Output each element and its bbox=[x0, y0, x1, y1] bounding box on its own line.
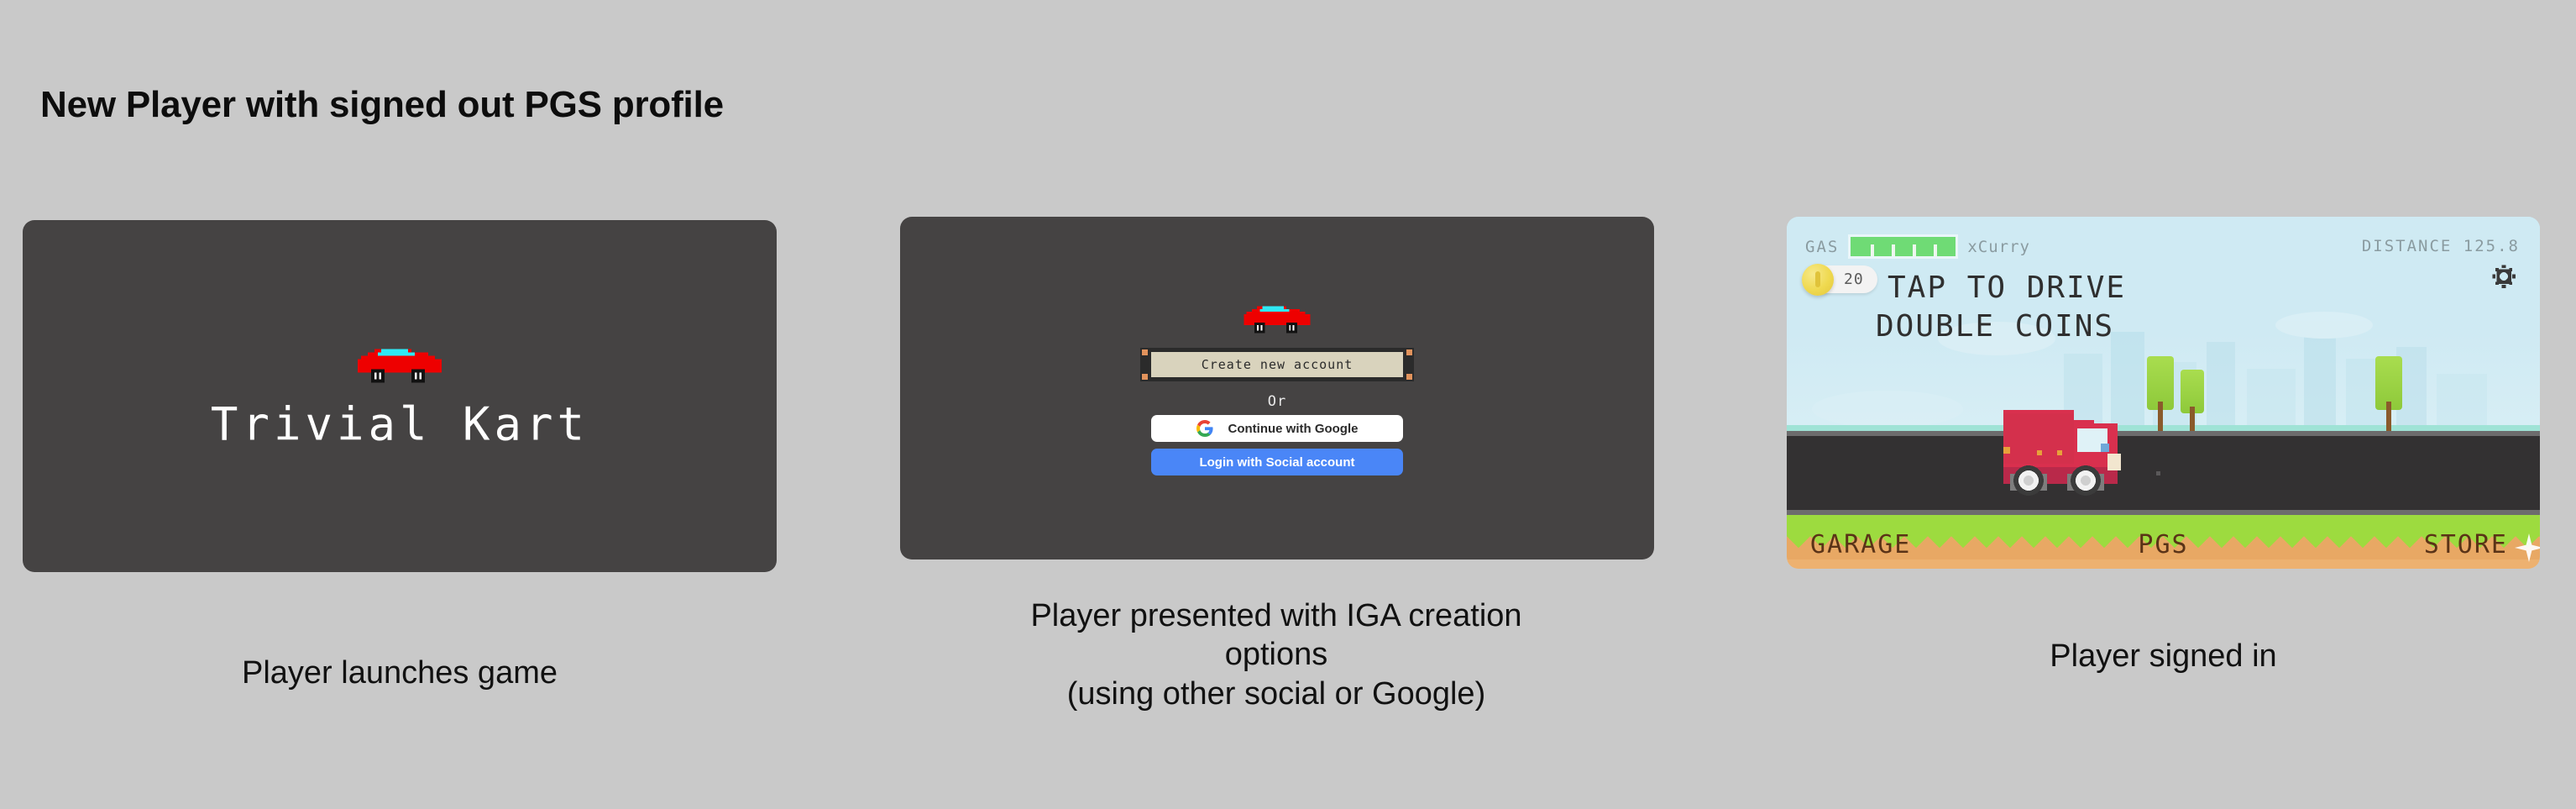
pixel-corner-tl bbox=[1142, 349, 1148, 355]
tree-trunk bbox=[2158, 402, 2163, 432]
car-svg bbox=[1238, 301, 1316, 336]
social-button-label: Login with Social account bbox=[1199, 455, 1354, 470]
distance-readout: DISTANCE 125.8 bbox=[2362, 237, 2520, 255]
coin-count-label: 20 bbox=[1844, 271, 1864, 288]
caption-panel-1: Player launches game bbox=[23, 654, 777, 692]
tree-2 bbox=[2180, 370, 2205, 432]
gas-meter: GAS xCurry bbox=[1805, 237, 2030, 256]
panel-account-creation: Create new account Or Continue with Goog… bbox=[900, 217, 1654, 559]
red-kart-car-sprite bbox=[351, 342, 448, 386]
gas-label: GAS bbox=[1805, 238, 1839, 256]
nav-item-pgs[interactable]: PGS bbox=[2138, 530, 2188, 559]
coin-counter: 20 bbox=[1810, 265, 1877, 293]
pixel-corner-bl bbox=[1142, 374, 1148, 380]
caption-panel-2-line-3: (using other social or Google) bbox=[890, 675, 1662, 713]
pixel-corner-br bbox=[1406, 374, 1412, 380]
login-with-social-button[interactable]: Login with Social account bbox=[1151, 449, 1403, 475]
gear-icon[interactable] bbox=[2491, 264, 2516, 289]
account-dialog: Create new account Or Continue with Goog… bbox=[1139, 301, 1416, 475]
gold-coin-icon bbox=[1802, 264, 1834, 296]
divider-or-label: Or bbox=[1139, 393, 1416, 410]
red-kart-car-sprite bbox=[1238, 301, 1316, 336]
caption-panel-2-line-1: Player presented with IGA creation bbox=[890, 596, 1662, 635]
prompt-line-2: DOUBLE COINS bbox=[1876, 309, 2114, 344]
tree-trunk bbox=[2386, 402, 2391, 432]
caption-panel-3: Player signed in bbox=[1787, 637, 2540, 675]
caption-panel-2: Player presented with IGA creation optio… bbox=[890, 596, 1662, 713]
pixel-corner-tr bbox=[1406, 349, 1412, 355]
continue-with-google-button[interactable]: Continue with Google bbox=[1151, 415, 1403, 442]
gear-svg bbox=[2491, 264, 2516, 289]
bottom-navbar: GARAGE PGS STORE bbox=[1787, 525, 2540, 564]
tree-1 bbox=[2146, 356, 2175, 432]
red-truck-sprite bbox=[2000, 403, 2149, 496]
panel-game-splash: Trivial Kart bbox=[23, 220, 777, 572]
prompt-line-1: TAP TO DRIVE bbox=[1887, 271, 2126, 305]
google-button-label: Continue with Google bbox=[1228, 422, 1359, 436]
nav-item-garage[interactable]: GARAGE bbox=[1810, 530, 1911, 559]
tree-trunk bbox=[2190, 407, 2195, 432]
panel-gameplay: GAS xCurry DISTANCE 125.8 20 TAP TO DRIV… bbox=[1787, 217, 2540, 569]
gas-bar bbox=[1851, 237, 1956, 256]
road-marking bbox=[2156, 471, 2160, 475]
splash-content: Trivial Kart bbox=[23, 342, 777, 450]
create-new-account-label: Create new account bbox=[1202, 357, 1353, 372]
tree-3 bbox=[2374, 356, 2403, 432]
truck-svg bbox=[2000, 403, 2149, 496]
caption-panel-2-line-2: options bbox=[890, 635, 1662, 674]
create-new-account-button[interactable]: Create new account bbox=[1151, 348, 1403, 381]
road bbox=[1787, 431, 2540, 515]
nav-item-store[interactable]: STORE bbox=[2424, 530, 2508, 559]
page-title: New Player with signed out PGS profile bbox=[40, 84, 724, 126]
sparkle-icon bbox=[2515, 533, 2540, 562]
player-username: xCurry bbox=[1967, 238, 2030, 256]
google-g-icon bbox=[1196, 420, 1213, 437]
car-svg bbox=[351, 342, 448, 386]
game-title: Trivial Kart bbox=[23, 397, 777, 450]
